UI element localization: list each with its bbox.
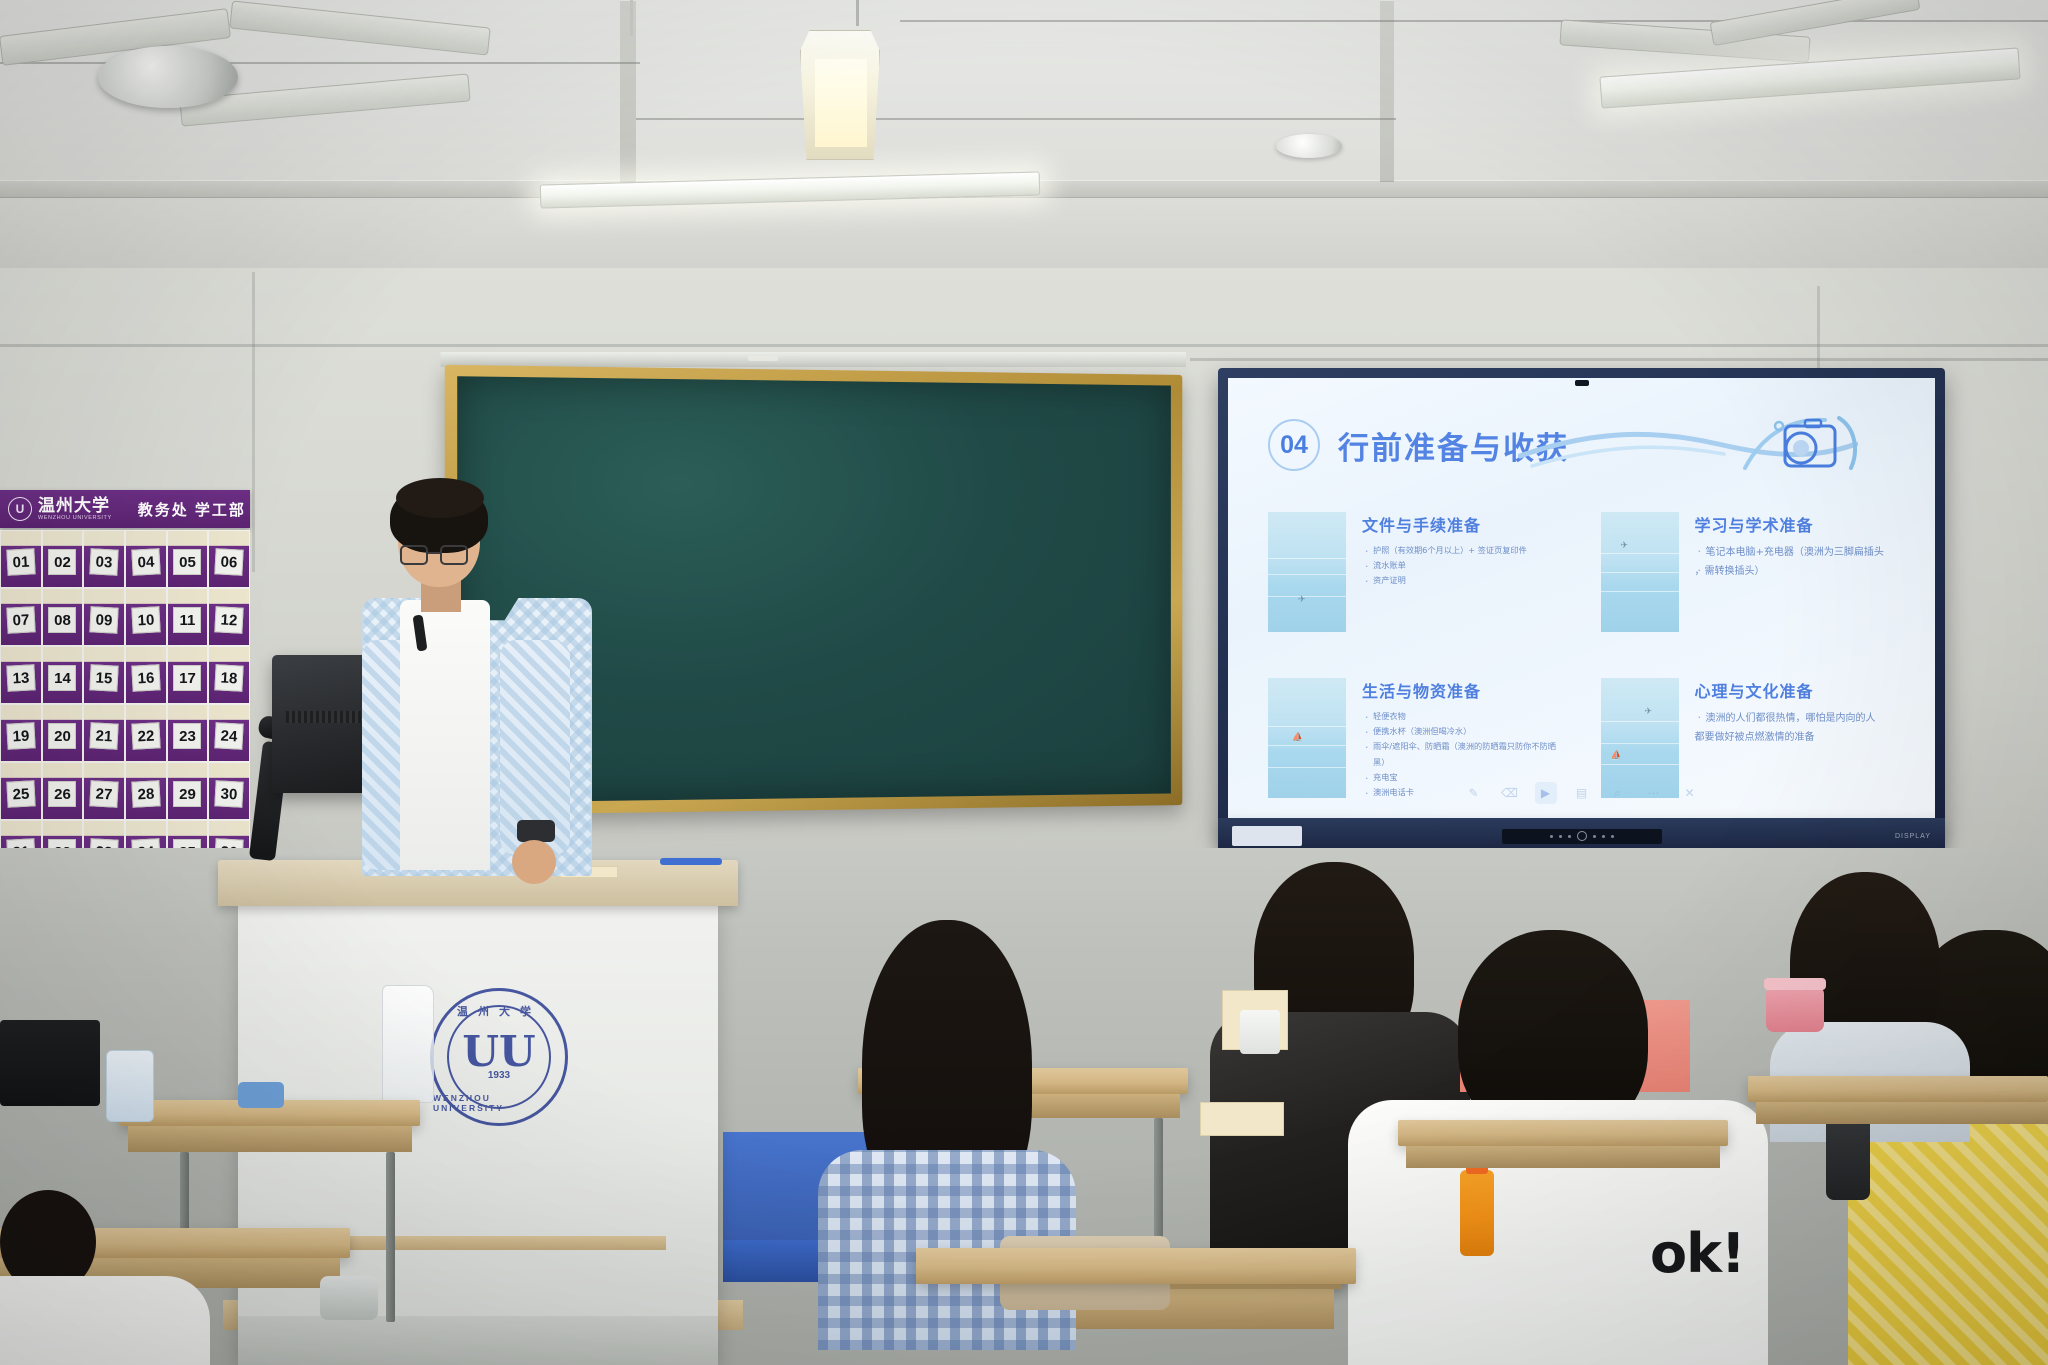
eraser-icon[interactable]: ⌫ [1499, 782, 1521, 804]
podium-base [238, 1316, 718, 1365]
bullet-item: 资产证明 [1362, 573, 1563, 588]
pocket-18[interactable]: 18 [208, 646, 250, 704]
boat-icon: ⛵ [1611, 750, 1622, 761]
presenter-inner-shirt [400, 600, 490, 870]
desk-front [1756, 1102, 2048, 1124]
section-bullet-list: 护照（有效期6个月以上）+ 签证页复印件 流水账单 资产证明 [1362, 543, 1563, 589]
pocket-number-label: 16 [131, 664, 160, 691]
wall-panel-edge [252, 272, 255, 572]
smart-display[interactable]: 04 行前准备与收获 [1218, 368, 1945, 830]
slide-title-row: 04 行前准备与收获 [1268, 412, 1895, 478]
pocket-number-label: 10 [131, 606, 160, 633]
bullet-item-cont: ，需转换插头） [1695, 562, 1896, 581]
presenter-hand-right [512, 840, 556, 884]
pocket-number-label: 23 [173, 723, 201, 749]
pocket-22[interactable]: 22 [125, 704, 167, 762]
control-dot-icon[interactable] [1611, 835, 1614, 838]
section-bullet-list: 澳洲的人们都很热情，哪怕是内向的人 都要做好被点燃激情的准备 [1695, 709, 1896, 747]
pendant-lamp [800, 30, 880, 160]
pocket-number-label: 12 [214, 606, 243, 633]
presenter-hair-top [396, 478, 484, 518]
presenter-glasses-right [440, 545, 468, 565]
wall-seam-upper [0, 344, 2048, 347]
department-label: 教务处 学工部 [138, 499, 246, 520]
pocket-17[interactable]: 17 [167, 646, 209, 704]
desk-bottom-center [916, 1248, 1356, 1284]
pocket-16[interactable]: 16 [125, 646, 167, 704]
pocket-number-label: 21 [89, 722, 118, 749]
pocket-30[interactable]: 30 [208, 762, 250, 820]
more-icon[interactable]: ⋯ [1643, 782, 1665, 804]
presentation-slide: 04 行前准备与收获 [1228, 378, 1935, 820]
desk-right-far [1748, 1076, 2048, 1102]
pocket-03[interactable]: 03 [83, 530, 125, 588]
camera-icon [1739, 410, 1859, 486]
desk-front [128, 1126, 412, 1152]
pocket-29[interactable]: 29 [167, 762, 209, 820]
pocket-05[interactable]: 05 [167, 530, 209, 588]
slide-section-documents: ✈ 文件与手续准备 护照（有效期6个月以上）+ 签证页复印件 流水账单 资产证明 [1268, 512, 1563, 632]
pendant-wire [856, 0, 859, 26]
pocket-01[interactable]: 01 [0, 530, 42, 588]
control-dot-icon[interactable] [1568, 835, 1571, 838]
pocket-number-label: 07 [6, 606, 35, 633]
close-icon[interactable]: ✕ [1679, 782, 1701, 804]
presenter-smartwatch [517, 820, 555, 842]
ceiling-fan-left [60, 0, 480, 160]
ceiling-beam-vertical-b [1380, 0, 1394, 182]
pocket-number-label: 15 [89, 664, 118, 691]
pocket-number-label: 04 [131, 548, 160, 575]
pocket-10[interactable]: 10 [125, 588, 167, 646]
section-image-sea: ✈ [1268, 512, 1346, 632]
pocket-04[interactable]: 04 [125, 530, 167, 588]
fan-hub [98, 46, 238, 108]
page-icon[interactable]: ▤ [1571, 782, 1593, 804]
pocket-12[interactable]: 12 [208, 588, 250, 646]
pocket-25[interactable]: 25 [0, 762, 42, 820]
pocket-08[interactable]: 08 [42, 588, 84, 646]
control-dot-icon[interactable] [1559, 835, 1562, 838]
tube-rod [630, 0, 633, 36]
slide-sections-grid: ✈ 文件与手续准备 护照（有效期6个月以上）+ 签证页复印件 流水账单 资产证明 [1268, 512, 1895, 800]
section-bullet-list: 笔记本电脑+充电器（澳洲为三脚扁插头 ，需转换插头） [1695, 543, 1896, 581]
bullet-item-cont: 都要做好被点燃激情的准备 [1695, 728, 1896, 747]
university-name-en: WENZHOU UNIVERSITY [38, 516, 112, 522]
search-icon[interactable]: ⌕ [1607, 782, 1629, 804]
section-body: 学习与学术准备 笔记本电脑+充电器（澳洲为三脚扁插头 ，需转换插头） [1695, 512, 1896, 632]
pocket-20[interactable]: 20 [42, 704, 84, 762]
wall-seam-lower [1190, 358, 2048, 361]
pocket-02[interactable]: 02 [42, 530, 84, 588]
section-image-sea: ✈ ⛵ [1601, 678, 1679, 798]
control-dot-icon[interactable] [1593, 835, 1596, 838]
pocket-24[interactable]: 24 [208, 704, 250, 762]
slide-section-number: 04 [1268, 419, 1320, 471]
pocket-number-label: 24 [214, 722, 243, 749]
desk-leg [386, 1152, 395, 1322]
white-cup-right [1240, 1010, 1280, 1054]
display-screen[interactable]: 04 行前准备与收获 [1228, 378, 1935, 820]
control-dot-icon[interactable] [1602, 835, 1605, 838]
laptop-far-left[interactable] [0, 1020, 100, 1106]
pocket-number-label: 11 [173, 607, 201, 633]
section-image-sea: ⛵ [1268, 678, 1346, 798]
airplane-icon: ✈ [1645, 706, 1653, 717]
presenter-glasses-bridge [428, 552, 440, 554]
university-seal-podium: 温州大学 UU 1933 WENZHOU UNIVERSITY [430, 988, 568, 1126]
pocket-09[interactable]: 09 [83, 588, 125, 646]
pocket-19[interactable]: 19 [0, 704, 42, 762]
university-name-cn: 温州大学 [38, 497, 112, 514]
pocket-13[interactable]: 13 [0, 646, 42, 704]
pocket-number-label: 13 [6, 664, 35, 691]
presenter-glasses-left [400, 545, 428, 565]
pocket-number-label: 05 [173, 549, 201, 575]
seal-text-cn: 温州大学 [457, 1003, 541, 1019]
pink-container-lid [1764, 978, 1826, 990]
airplane-icon: ✈ [1298, 594, 1306, 605]
ceiling-beam-vertical-a [620, 0, 636, 182]
section-body: 文件与手续准备 护照（有效期6个月以上）+ 签证页复印件 流水账单 资产证明 [1362, 512, 1563, 632]
airplane-icon: ✈ [1621, 540, 1629, 551]
pocket-06[interactable]: 06 [208, 530, 250, 588]
pocket-number-label: 02 [48, 549, 76, 575]
plastic-bag-on-podium [382, 985, 434, 1103]
university-seal-icon: U [8, 497, 32, 521]
pocket-23[interactable]: 23 [167, 704, 209, 762]
pocket-27[interactable]: 27 [83, 762, 125, 820]
classroom-scene: U 温州大学 WENZHOU UNIVERSITY 教务处 学工部 010203… [0, 0, 2048, 1365]
pocket-number-label: 30 [214, 780, 243, 807]
pocket-chart-header: U 温州大学 WENZHOU UNIVERSITY 教务处 学工部 [0, 490, 250, 528]
section-heading: 心理与文化准备 [1695, 678, 1896, 702]
pocket-number-label: 06 [214, 548, 243, 575]
student-body [0, 1276, 210, 1365]
pocket-number-label: 09 [89, 606, 118, 633]
pocket-26[interactable]: 26 [42, 762, 84, 820]
pocket-11[interactable]: 11 [167, 588, 209, 646]
tumbler-far-left [320, 1276, 378, 1320]
power-button-icon[interactable] [1577, 831, 1587, 841]
pocket-number-label: 25 [6, 780, 35, 807]
section-body: 心理与文化准备 澳洲的人们都很热情，哪怕是内向的人 都要做好被点燃激情的准备 [1695, 678, 1896, 800]
note-paper-center-2 [1200, 1102, 1284, 1136]
display-control-bar[interactable] [1502, 829, 1662, 844]
object-blue-on-desk [238, 1082, 284, 1108]
pocket-number-label: 17 [173, 665, 201, 691]
section-heading: 学习与学术准备 [1695, 512, 1896, 536]
fan-blade [1710, 0, 1921, 46]
boat-icon: ⛵ [1292, 732, 1303, 743]
section-heading: 生活与物资准备 [1362, 678, 1563, 702]
cup-far-left [106, 1050, 154, 1122]
pendant-lamp-inner [815, 59, 867, 147]
bullet-item: 笔记本电脑+充电器（澳洲为三脚扁插头 [1695, 543, 1896, 562]
pocket-number-label: 20 [48, 723, 76, 749]
seal-text-en: WENZHOU UNIVERSITY [433, 1093, 565, 1113]
pocket-number-label: 22 [131, 722, 160, 749]
slide-toolbar[interactable]: ✎ ⌫ ▶ ▤ ⌕ ⋯ ✕ [1463, 782, 1701, 804]
pocket-14[interactable]: 14 [42, 646, 84, 704]
slide-section-academic: ✈ 学习与学术准备 笔记本电脑+充电器（澳洲为三脚扁插头 ，需转换插头） [1601, 512, 1896, 632]
chalk-tray [441, 352, 1187, 367]
bullet-item: 便携水杯（澳洲但喝冷水） [1362, 724, 1563, 739]
desk-right-front [1398, 1120, 1728, 1146]
orange-drink-bottle [1460, 1170, 1494, 1256]
display-label-left [1232, 826, 1302, 846]
seal-year: 1933 [488, 1070, 510, 1081]
pocket-number-label: 08 [48, 607, 76, 633]
pocket-number-label: 26 [48, 781, 76, 807]
bullet-item: 护照（有效期6个月以上）+ 签证页复印件 [1362, 543, 1563, 558]
ceiling-line-c [636, 118, 1396, 120]
pocket-number-label: 28 [131, 780, 160, 807]
pen-icon[interactable]: ✎ [1463, 782, 1485, 804]
tshirt-text: ok! [1650, 1222, 1745, 1285]
pocket-number-label: 27 [89, 780, 118, 807]
desk-front [1406, 1146, 1720, 1168]
bullet-item: 轻便衣物 [1362, 709, 1563, 724]
section-image-sea: ✈ [1601, 512, 1679, 632]
pocket-15[interactable]: 15 [83, 646, 125, 704]
fan-blade [229, 0, 491, 55]
university-name-block: 温州大学 WENZHOU UNIVERSITY [38, 497, 112, 522]
play-icon[interactable]: ▶ [1535, 782, 1557, 804]
section-heading: 文件与手续准备 [1362, 512, 1563, 536]
bullet-item: 澳洲的人们都很热情，哪怕是内向的人 [1695, 709, 1896, 728]
pink-container [1766, 986, 1824, 1032]
pocket-number-label: 19 [6, 722, 35, 749]
pocket-21[interactable]: 21 [83, 704, 125, 762]
bullet-item: 流水账单 [1362, 558, 1563, 573]
smoke-detector [1276, 134, 1342, 158]
chalk-piece[interactable] [748, 356, 778, 361]
pocket-number-label: 14 [48, 665, 76, 691]
pocket-number-label: 01 [6, 548, 35, 575]
seal-monogram: UU [462, 1033, 535, 1071]
pocket-07[interactable]: 07 [0, 588, 42, 646]
control-dot-icon[interactable] [1550, 835, 1553, 838]
pen-on-podium [660, 858, 722, 865]
bullet-item: 雨伞/遮阳伞、防晒霜（澳洲的防晒霜只防你不防晒黑） [1362, 739, 1563, 769]
display-brand-label: DISPLAY [1895, 833, 1931, 840]
pocket-number-label: 18 [214, 664, 243, 691]
pocket-number-label: 29 [173, 781, 201, 807]
pocket-28[interactable]: 28 [125, 762, 167, 820]
pocket-number-label: 03 [89, 548, 118, 575]
